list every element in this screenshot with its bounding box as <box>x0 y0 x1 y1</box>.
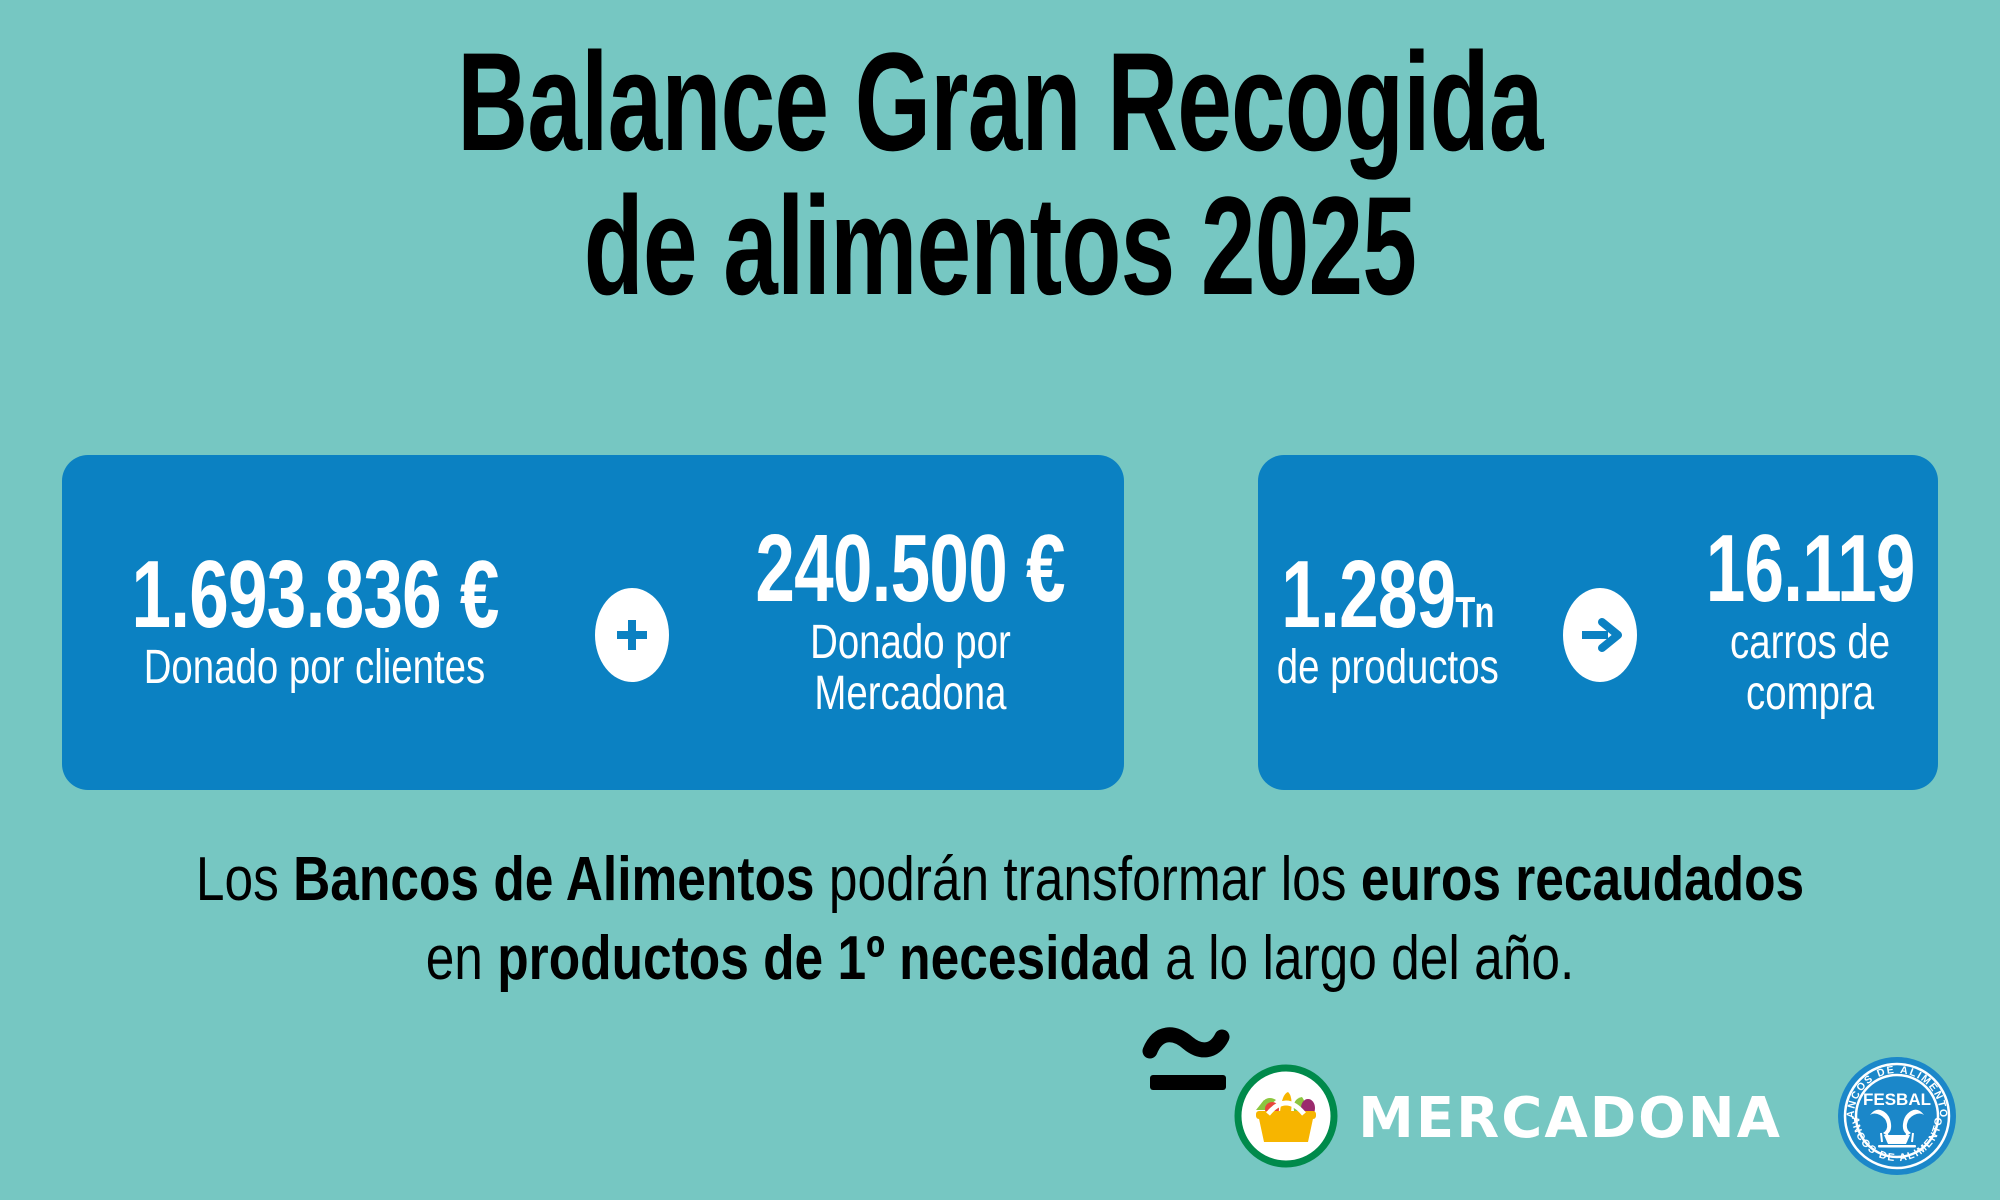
title-line-1: Balance Gran Recogida <box>300 34 1700 170</box>
stat-value-products-number: 1.289 <box>1282 541 1456 648</box>
fesbal-center-text: FESBAL <box>1863 1090 1931 1109</box>
stat-label-mercadona: Donado por Mercadona <box>810 618 1011 720</box>
stat-shopping-carts: 16.119 carros de compra <box>1663 525 1957 719</box>
mercadona-logo: MERCADONA <box>1234 1064 1782 1173</box>
logo-row: MERCADONA BANCOS DE ALIMENTOS BANCOS DE … <box>1234 1055 1958 1182</box>
products-stat-box: 1.289Tn de productos 16.119 carros de co… <box>1258 455 1938 790</box>
fesbal-logo: BANCOS DE ALIMENTOS BANCOS DE ALIMENTOS … <box>1836 1055 1958 1182</box>
mercadona-basket-icon <box>1234 1064 1338 1173</box>
money-stat-box: 1.693.836 € Donado por clientes 240.500 … <box>62 455 1124 790</box>
arrow-right-icon <box>1563 588 1637 682</box>
stat-value-products: 1.289Tn <box>1282 551 1494 639</box>
title-line-2: de alimentos 2025 <box>300 178 1700 314</box>
bottom-paragraph-line-2: en productos de 1º necesidad a lo largo … <box>170 919 1830 998</box>
stat-label-clients: Donado por clientes <box>144 643 486 694</box>
plus-icon <box>595 588 669 682</box>
stats-row: 1.693.836 € Donado por clientes 240.500 … <box>0 455 2000 790</box>
stat-label-carts: carros de compra <box>1730 618 1890 720</box>
stat-donated-by-mercadona: 240.500 € Donado por Mercadona <box>695 525 1125 719</box>
bottom-paragraph: Los Bancos de Alimentos podrán transform… <box>0 840 2000 999</box>
stat-label-products: de productos <box>1277 643 1499 694</box>
stat-value-mercadona: 240.500 € <box>755 525 1064 613</box>
stat-value-products-unit: Tn <box>1456 588 1494 637</box>
approximately-equal-icon <box>1142 1013 1242 1109</box>
page-title: Balance Gran Recogida de alimentos 2025 <box>0 34 2000 314</box>
mercadona-wordmark: MERCADONA <box>1358 1091 1782 1147</box>
stat-donated-by-clients: 1.693.836 € Donado por clientes <box>61 551 569 694</box>
bottom-paragraph-line-1: Los Bancos de Alimentos podrán transform… <box>170 840 1830 919</box>
stat-value-carts: 16.119 <box>1706 525 1915 613</box>
stat-products-tonnes: 1.289Tn de productos <box>1238 551 1537 694</box>
stat-value-clients: 1.693.836 € <box>131 551 498 639</box>
